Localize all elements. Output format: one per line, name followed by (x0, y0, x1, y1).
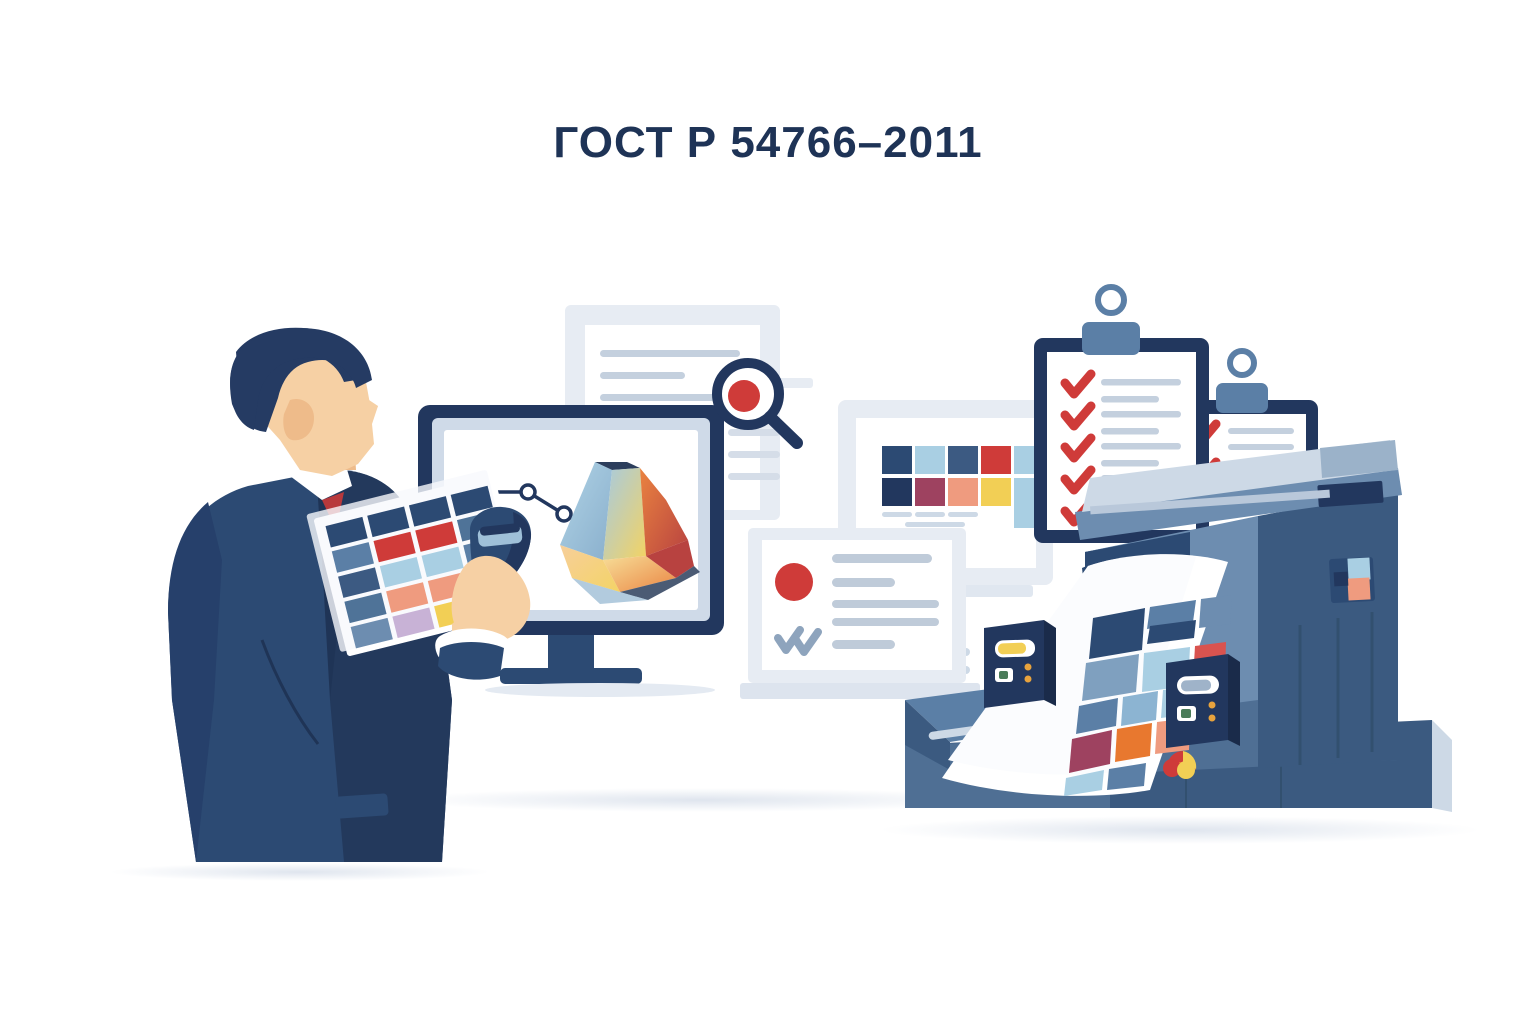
report-card (740, 528, 980, 699)
press-colorimeter-right[interactable] (1166, 654, 1240, 748)
press-control-panel[interactable] (1329, 557, 1375, 603)
scene-illustration (0, 0, 1536, 1024)
illustration-canvas: ГОСТ Р 54766–2011 (0, 0, 1536, 1024)
status-dot (775, 563, 813, 601)
press-colorimeter-left[interactable] (984, 620, 1056, 708)
